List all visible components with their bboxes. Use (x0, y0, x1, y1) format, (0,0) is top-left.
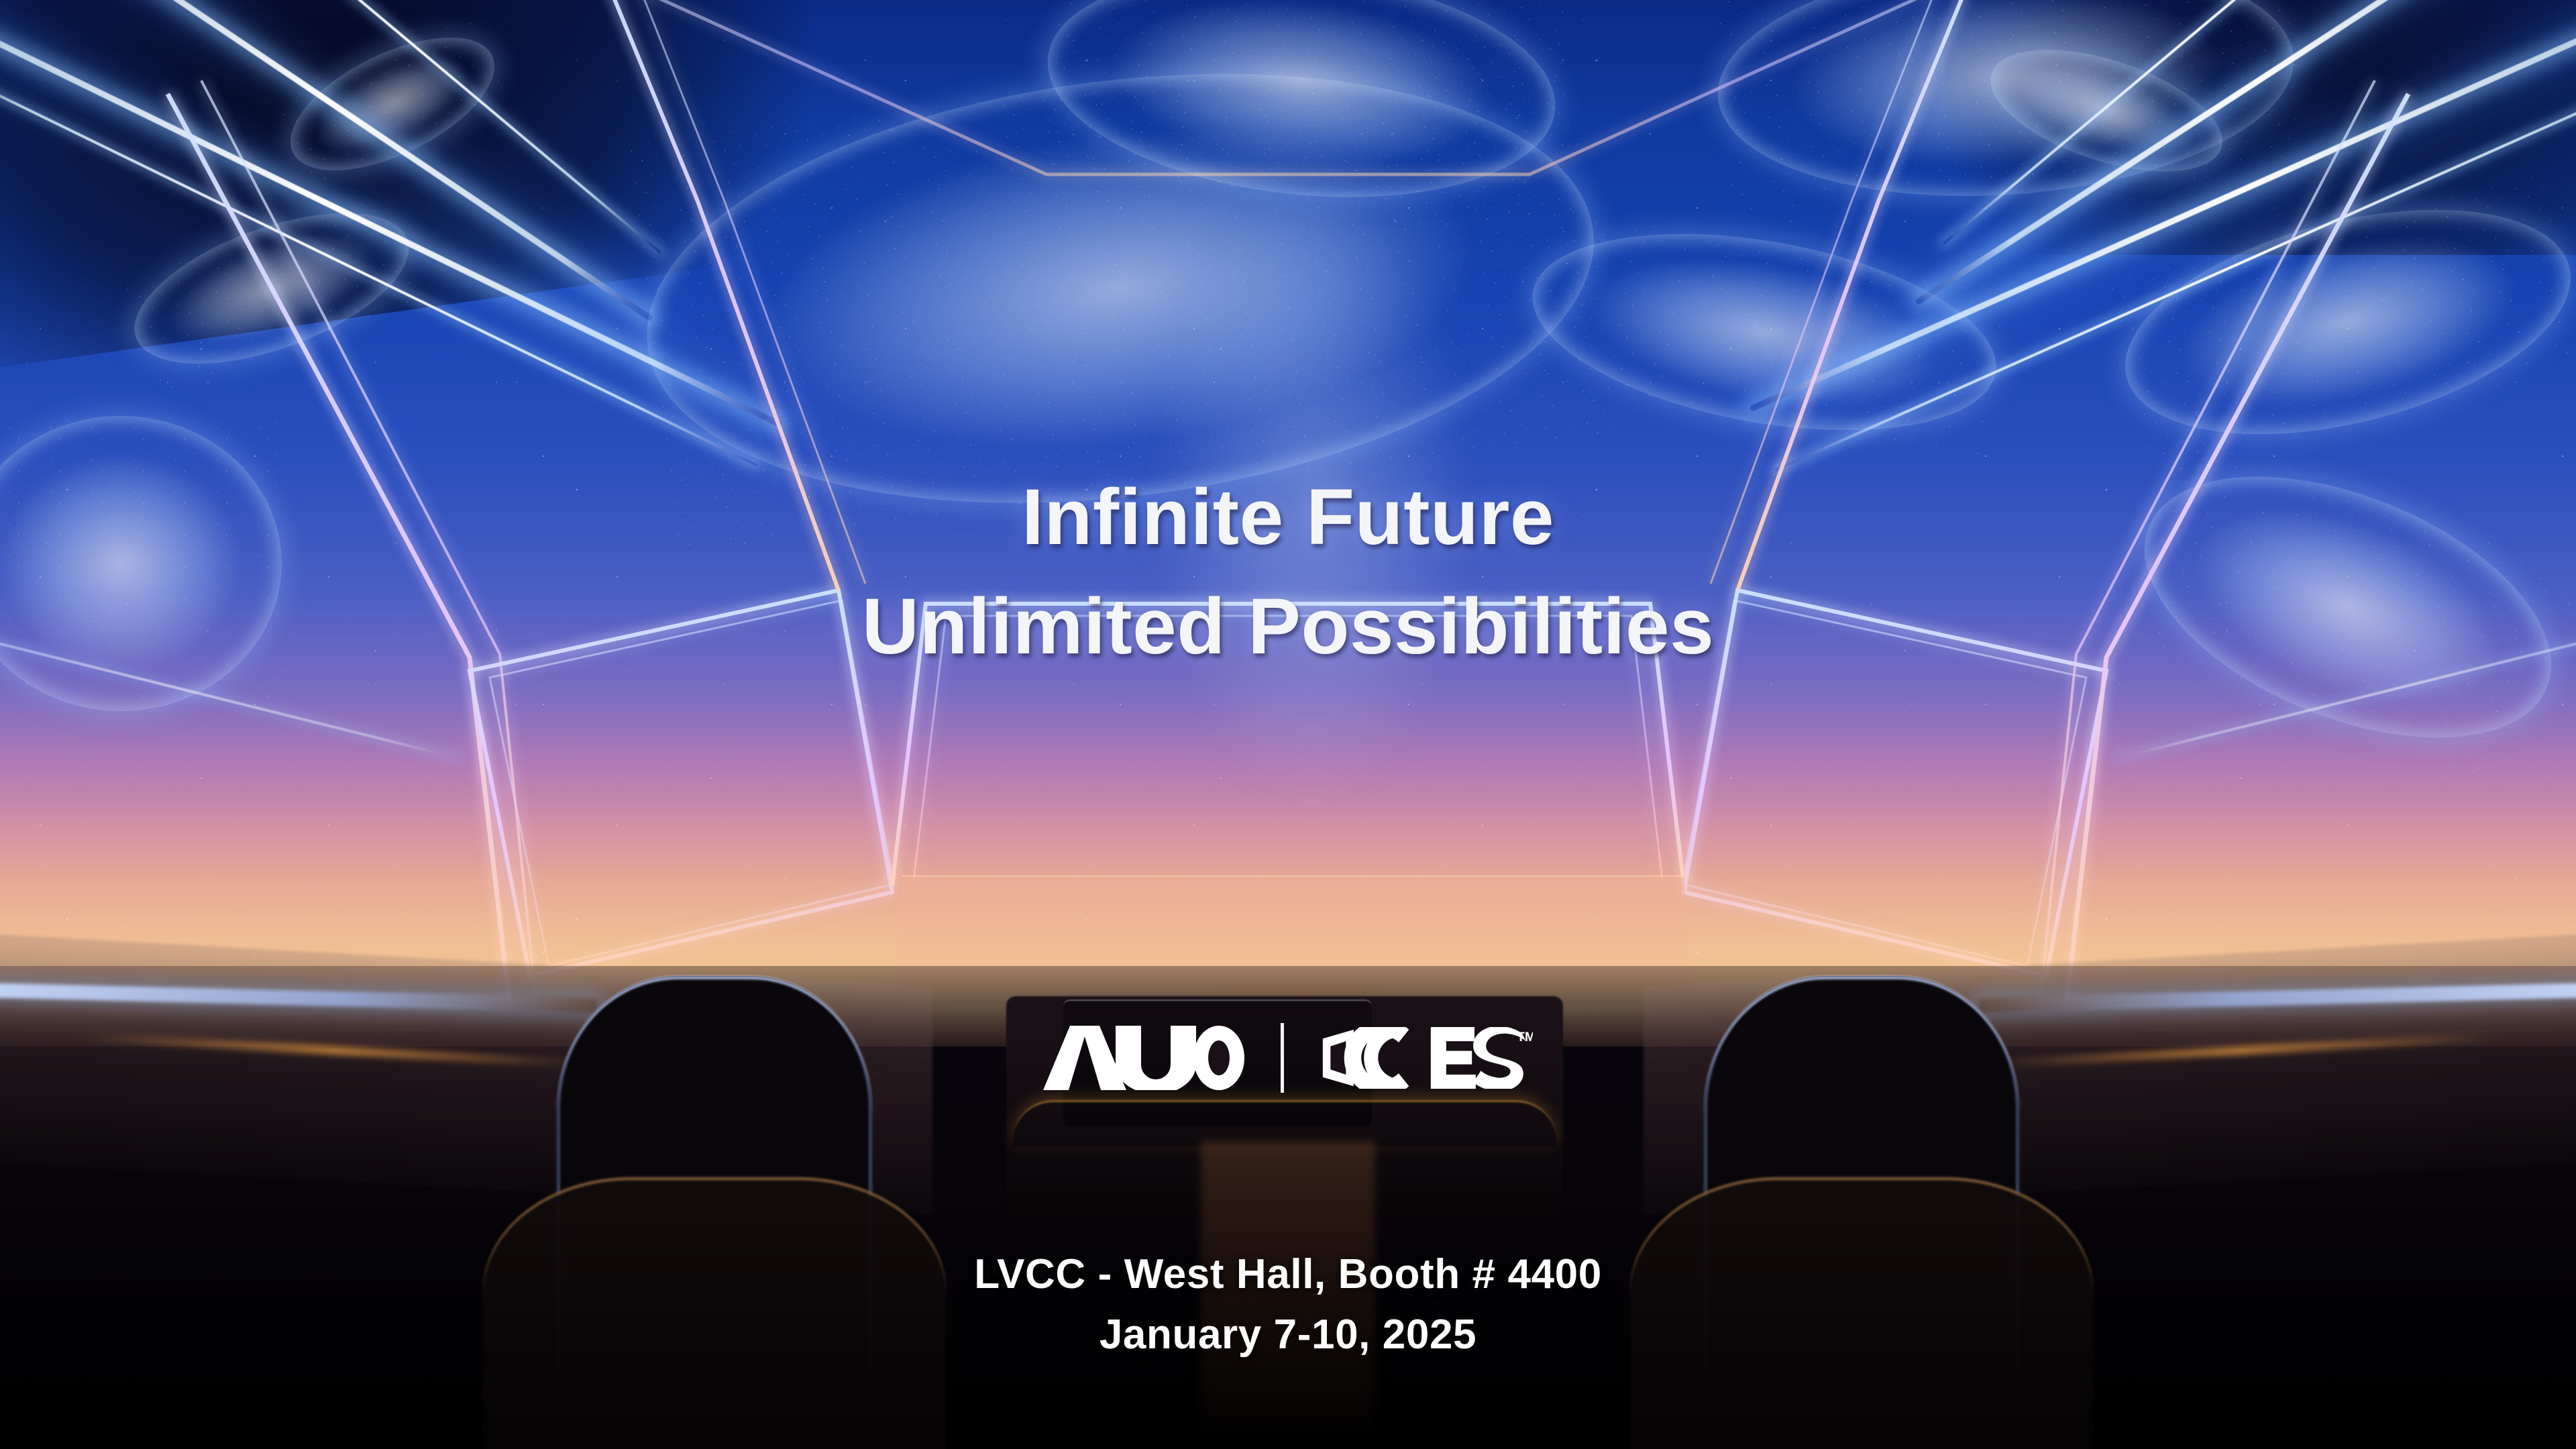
headline-line-1: Infinite Future (0, 463, 2576, 572)
venue-info: LVCC - West Hall, Booth # 4400 January 7… (0, 1244, 2576, 1365)
ces-2025-key-visual: Infinite Future Unlimited Possibilities (0, 0, 2576, 1449)
headline-line-2: Unlimited Possibilities (0, 572, 2576, 682)
ces-logo: TM (1320, 1027, 1532, 1089)
logo-divider (1281, 1023, 1284, 1093)
venue-location: LVCC - West Hall, Booth # 4400 (0, 1244, 2576, 1305)
trademark-symbol: TM (1517, 1030, 1533, 1044)
logo-lockup: TM (0, 1023, 2576, 1093)
venue-dates: January 7-10, 2025 (0, 1305, 2576, 1365)
headline: Infinite Future Unlimited Possibilities (0, 463, 2576, 682)
auo-logo (1043, 1026, 1244, 1090)
